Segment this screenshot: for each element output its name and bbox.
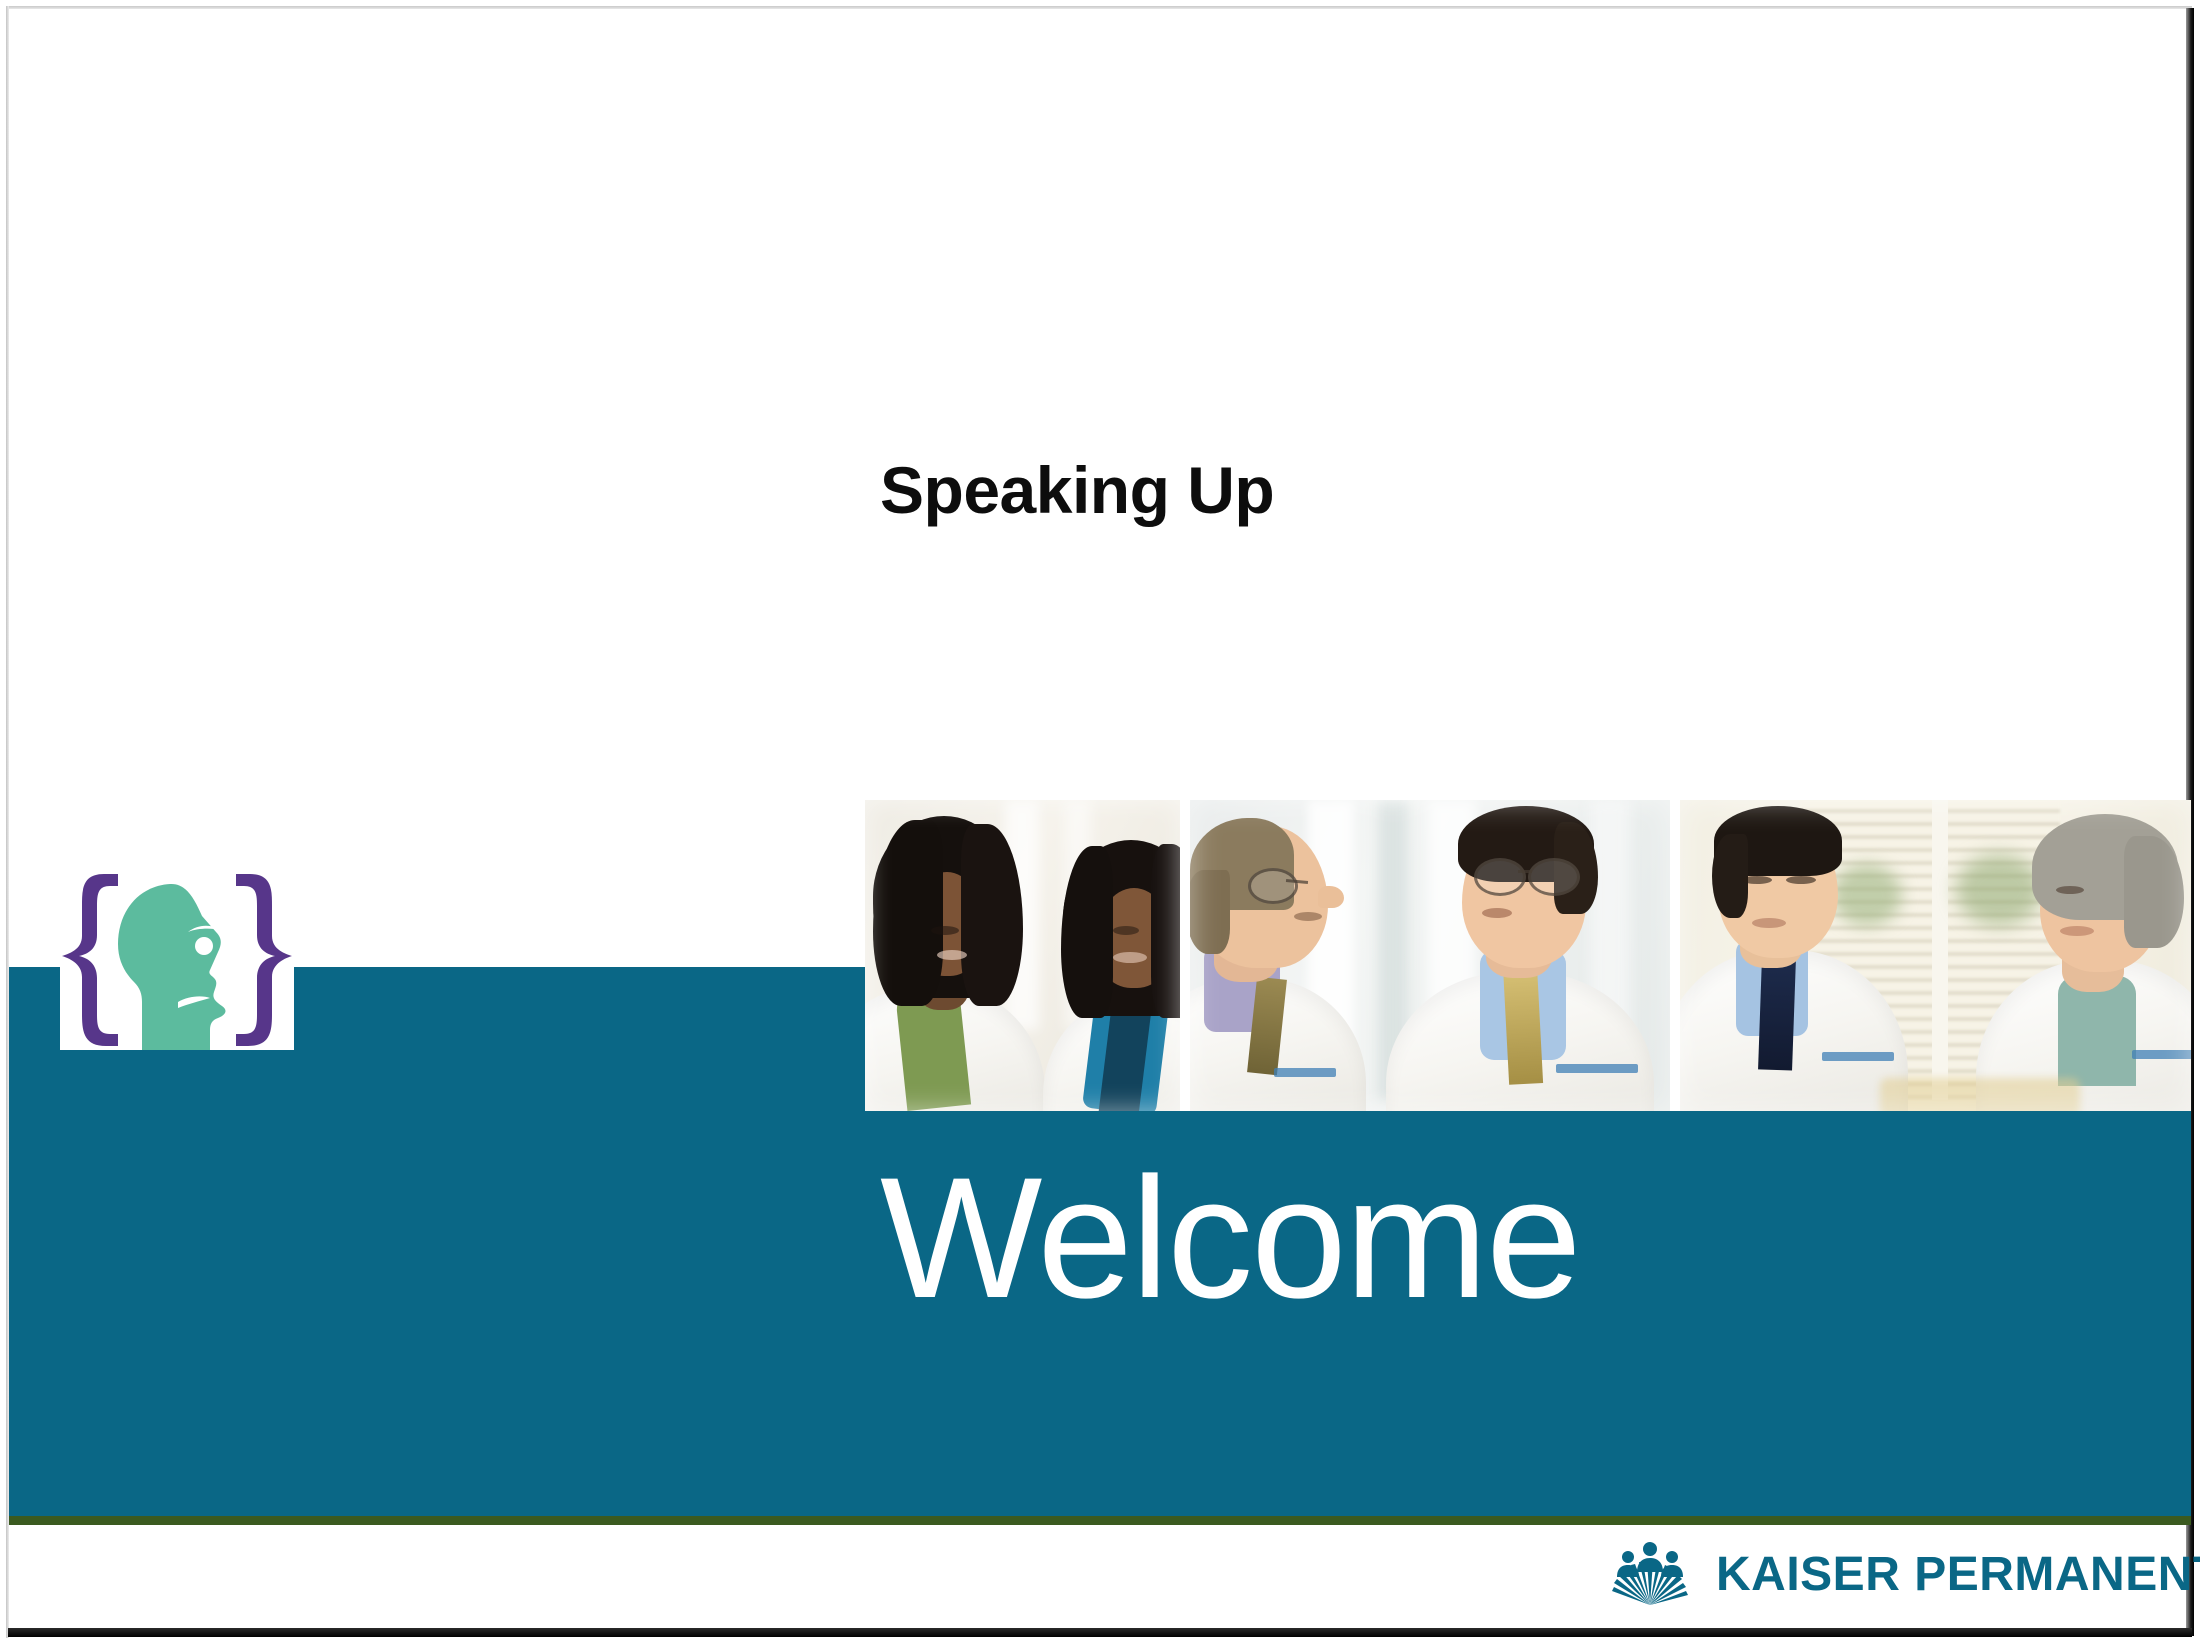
photo-panel-1	[865, 800, 1180, 1111]
photo-panel-2	[1190, 800, 1670, 1111]
kaiser-permanente-mark-icon	[1606, 1541, 1694, 1607]
welcome-headline: Welcome	[880, 1152, 1580, 1324]
photo-panel-3	[1680, 800, 2191, 1111]
kaiser-permanente-wordmark: KAISER PERMANENTE ®	[1716, 1547, 2200, 1602]
speaking-up-logo	[52, 870, 302, 1050]
green-divider-rule	[9, 1516, 2191, 1525]
slide-border-bottom	[8, 1628, 2192, 1637]
photo-strip	[865, 800, 2191, 1111]
kaiser-permanente-logo: KAISER PERMANENTE ®	[1606, 1538, 2200, 1610]
photo-gap-1	[1180, 800, 1190, 1111]
page-title: Speaking Up	[880, 452, 1274, 528]
kp-brand-name: KAISER PERMANENTE	[1716, 1547, 2200, 1602]
slide-border-top	[8, 6, 2192, 9]
slide: Speaking Up	[0, 0, 2200, 1650]
photo-gap-2	[1670, 800, 1680, 1111]
